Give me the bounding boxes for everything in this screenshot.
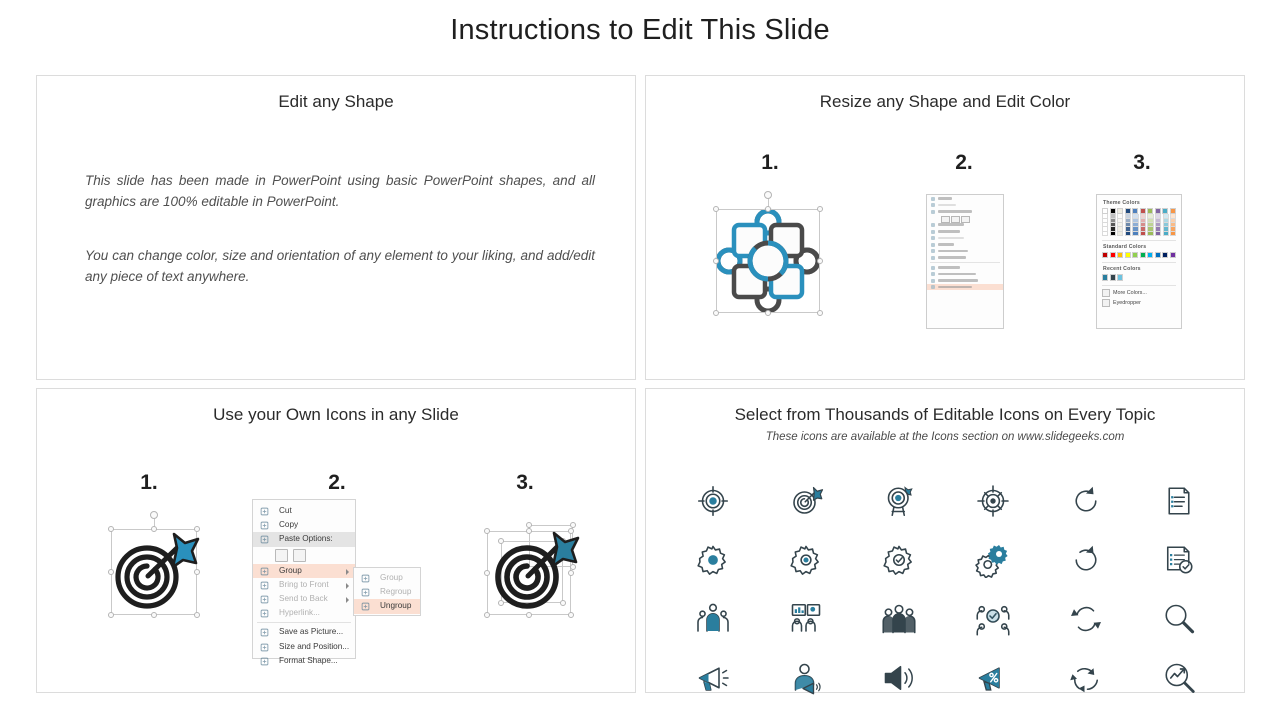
theme-colors-label: Theme Colors: [1103, 200, 1176, 206]
divider: [1102, 262, 1176, 263]
mini-context-menu-item-size-and-position[interactable]: [927, 277, 1003, 284]
group-icon: [260, 567, 269, 576]
context-menu-item-paste-options[interactable]: Paste Options:: [253, 532, 355, 546]
mini-item-label: [938, 266, 960, 269]
standard-swatch-2[interactable]: [1117, 252, 1123, 258]
standard-swatch-1[interactable]: [1110, 252, 1116, 258]
submenu-chevron-icon: [346, 583, 349, 589]
document-list-icon[interactable]: [1133, 471, 1226, 530]
send-back-icon: [260, 595, 269, 604]
mini-item-label: [938, 279, 978, 282]
mini-item-label: [938, 286, 972, 289]
icon-row: [666, 530, 1226, 589]
group-icon: [260, 567, 269, 576]
crosshair-scope-icon[interactable]: [946, 471, 1039, 530]
bring-front-icon: [931, 243, 935, 247]
mini-item-label: [938, 197, 952, 200]
theme-tint-0-4[interactable]: [1102, 232, 1108, 236]
size-position-icon: [260, 643, 269, 652]
mini-context-menu-item-edit-points[interactable]: [927, 228, 1003, 235]
context-menu-thumbnail[interactable]: [926, 194, 1004, 329]
mini-item-label: [938, 204, 956, 207]
recent-swatch-2[interactable]: [1117, 274, 1123, 280]
speaker-icon[interactable]: [853, 648, 946, 707]
send-back-icon: [931, 249, 935, 253]
theme-color-tints[interactable]: [1102, 214, 1176, 236]
mini-item-label: [938, 243, 954, 246]
scissors-icon: [260, 507, 269, 516]
save-picture-icon: [260, 628, 269, 637]
rotation-handle[interactable]: [764, 191, 772, 199]
hyperlink-icon: [260, 609, 269, 618]
target-crosshair-icon[interactable]: [666, 471, 759, 530]
edit-text-icon: [931, 223, 935, 227]
gear-outline-icon[interactable]: [759, 530, 852, 589]
recent-colors-label: Recent Colors: [1103, 266, 1176, 272]
context-menu-item-label: Paste Options:: [279, 534, 333, 543]
divider: [1102, 285, 1176, 286]
panel-resize-shape-title: Resize any Shape and Edit Color: [646, 92, 1244, 112]
resize-handle-s[interactable]: [765, 310, 771, 316]
hyperlink-icon: [931, 256, 935, 260]
regroup-icon: [361, 588, 370, 597]
ungroup-icon: [361, 602, 370, 611]
mini-context-menu-item-set-as-default-shape[interactable]: [927, 271, 1003, 278]
edit-shape-paragraph-2: You can change color, size and orientati…: [85, 246, 595, 288]
icons-step-1-number: 1.: [119, 471, 179, 495]
standard-swatch-0[interactable]: [1102, 252, 1108, 258]
standard-swatch-5[interactable]: [1140, 252, 1146, 258]
regroup-icon: [361, 588, 370, 597]
theme-tint-column-8[interactable]: [1163, 214, 1169, 236]
context-menu-item-group[interactable]: Group: [253, 564, 355, 578]
gear-filled-icon[interactable]: [666, 530, 759, 589]
standard-colors-label: Standard Colors: [1103, 244, 1176, 250]
theme-tint-8-4[interactable]: [1163, 232, 1169, 236]
icon-gallery: [666, 471, 1226, 707]
submenu-item-label: Regroup: [380, 587, 411, 596]
context-menu-item-label: Copy: [279, 520, 298, 529]
size-position-icon: [260, 643, 269, 652]
theme-tint-column-9[interactable]: [1170, 214, 1176, 236]
size-position-icon: [931, 279, 935, 283]
standard-swatch-9[interactable]: [1170, 252, 1176, 258]
paste-icon: [931, 210, 935, 214]
theme-tint-column-0[interactable]: [1102, 214, 1108, 236]
theme-tint-column-2[interactable]: [1117, 214, 1123, 236]
people-group-icon[interactable]: [853, 589, 946, 648]
theme-tint-column-7[interactable]: [1155, 214, 1161, 236]
person-megaphone-icon[interactable]: [759, 648, 852, 707]
context-menu-item-format-shape[interactable]: Format Shape...: [253, 654, 355, 668]
context-menu-item-label: Size and Position...: [279, 642, 349, 651]
format-shape-icon: [260, 657, 269, 666]
resize-handle-sw[interactable]: [713, 310, 719, 316]
mini-context-menu-item-send-to-back[interactable]: [927, 248, 1003, 255]
submenu-chevron-icon: [346, 569, 349, 575]
theme-tint-column-5[interactable]: [1140, 214, 1146, 236]
standard-swatch-6[interactable]: [1147, 252, 1153, 258]
submenu-item-group[interactable]: Group: [354, 571, 420, 585]
megaphone-percent-icon[interactable]: [946, 648, 1039, 707]
format-shape-icon: [260, 657, 269, 666]
paste-options-row[interactable]: [253, 547, 355, 564]
checklist-document-icon[interactable]: [1133, 530, 1226, 589]
menu-separator: [257, 622, 351, 623]
mini-context-menu-item-edit-text[interactable]: [927, 221, 1003, 228]
mini-item-label: [938, 210, 972, 213]
edit-points-icon: [931, 230, 935, 234]
edit-shape-paragraph-1: This slide has been made in PowerPoint u…: [85, 171, 595, 213]
mini-item-label: [938, 273, 976, 276]
mini-item-label: [938, 237, 964, 240]
group-icon: [931, 236, 935, 240]
ungroup-icon: [361, 602, 370, 611]
icons-step-1-art[interactable]: [99, 517, 209, 629]
mini-item-label: [938, 256, 966, 259]
resize-handle-nw[interactable]: [713, 206, 719, 212]
panel-editable-icons: Select from Thousands of Editable Icons …: [645, 388, 1245, 693]
mini-context-menu-item-save-as-picture[interactable]: [927, 264, 1003, 271]
paste-icon: [260, 535, 269, 544]
submenu-item-label: Group: [380, 573, 403, 582]
resize-step-1-art[interactable]: [708, 196, 828, 321]
mini-context-menu-item-format-shape[interactable]: [927, 284, 1003, 291]
sync-arrows-icon[interactable]: [1039, 589, 1132, 648]
magnifier-icon[interactable]: [1133, 589, 1226, 648]
cycle-arrows-icon[interactable]: [1039, 648, 1132, 707]
save-picture-icon: [931, 266, 935, 270]
group-icon: [361, 574, 370, 583]
copy-icon: [260, 521, 269, 530]
divider: [1102, 240, 1176, 241]
bring-front-icon: [260, 581, 269, 590]
eyedropper-item[interactable]: Eyedropper: [1102, 299, 1176, 307]
eyedropper-icon: [1102, 299, 1110, 307]
mini-item-label: [938, 250, 968, 253]
hyperlink-icon: [260, 609, 269, 618]
theme-tint-column-6[interactable]: [1147, 214, 1153, 236]
group-icon: [361, 574, 370, 583]
send-back-icon: [260, 595, 269, 604]
scissors-icon: [931, 197, 935, 201]
standard-swatch-8[interactable]: [1162, 252, 1168, 258]
more-colors-item[interactable]: More Colors...: [1102, 289, 1176, 297]
resize-handle-w[interactable]: [713, 258, 719, 264]
page-title: Instructions to Edit This Slide: [0, 14, 1280, 47]
theme-tint-5-4[interactable]: [1140, 232, 1146, 236]
context-menu-item-label: Bring to Front: [279, 580, 329, 589]
double-gear-icon[interactable]: [946, 530, 1039, 589]
selection-box[interactable]: [716, 209, 820, 313]
save-picture-icon: [260, 628, 269, 637]
panel-edit-shape: Edit any Shape This slide has been made …: [36, 75, 636, 380]
panel-editable-icons-subtitle: These icons are available at the Icons s…: [646, 431, 1244, 443]
context-menu-item-label: Send to Back: [279, 594, 328, 603]
theme-tint-column-4[interactable]: [1132, 214, 1138, 236]
panel-own-icons-title: Use your Own Icons in any Slide: [37, 405, 635, 425]
mini-context-menu-item-paste-options[interactable]: [927, 208, 1003, 215]
context-menu-item-bring-to-front[interactable]: Bring to Front: [253, 578, 355, 592]
recent-color-swatches[interactable]: [1102, 274, 1176, 280]
group-submenu[interactable]: GroupRegroupUngroup: [353, 567, 421, 616]
format-shape-icon: [931, 285, 935, 289]
theme-tint-7-4[interactable]: [1155, 232, 1161, 236]
color-picker-thumbnail[interactable]: Theme Colors Standard Colors Recent Colo…: [1096, 194, 1182, 329]
recent-swatch-1[interactable]: [1110, 274, 1116, 280]
context-menu-item-size-and-position[interactable]: Size and Position...: [253, 640, 355, 654]
target-stand-icon[interactable]: [853, 471, 946, 530]
default-shape-icon: [931, 272, 935, 276]
mini-context-menu-item-bring-to-front[interactable]: [927, 241, 1003, 248]
context-menu-item-save-as-picture[interactable]: Save as Picture...: [253, 625, 355, 639]
panel-resize-shape: Resize any Shape and Edit Color 1. 2. 3.: [645, 75, 1245, 380]
standard-swatch-4[interactable]: [1132, 252, 1138, 258]
context-menu-item-cut[interactable]: Cut: [253, 504, 355, 518]
resize-handle-e[interactable]: [817, 258, 823, 264]
dartboard-arrow-icon[interactable]: [759, 471, 852, 530]
recent-swatch-0[interactable]: [1102, 274, 1108, 280]
slide-canvas: Instructions to Edit This Slide Edit any…: [0, 0, 1280, 720]
icon-row: [666, 471, 1226, 530]
team-meeting-icon[interactable]: [946, 589, 1039, 648]
person-leader-icon[interactable]: [666, 589, 759, 648]
paste-icon: [260, 535, 269, 544]
gear-check-icon[interactable]: [853, 530, 946, 589]
resize-handle-ne[interactable]: [817, 206, 823, 212]
megaphone-icon[interactable]: [666, 648, 759, 707]
submenu-item-label: Ungroup: [380, 601, 411, 610]
icons-step-2-number: 2.: [307, 471, 367, 495]
icon-row: [666, 648, 1226, 707]
icons-step-3-number: 3.: [495, 471, 555, 495]
submenu-item-regroup[interactable]: Regroup: [354, 585, 420, 599]
paste-picture-icon[interactable]: [293, 549, 306, 562]
copy-icon: [931, 203, 935, 207]
target-dart-icon-ungrouped: [477, 517, 592, 629]
standard-swatch-7[interactable]: [1155, 252, 1161, 258]
theme-tint-column-1[interactable]: [1110, 214, 1116, 236]
copy-icon: [260, 521, 269, 530]
magnifier-chart-icon[interactable]: [1133, 648, 1226, 707]
submenu-chevron-icon: [346, 597, 349, 603]
context-menu-item-label: Hyperlink...: [279, 608, 320, 617]
theme-tint-3-4[interactable]: [1125, 232, 1131, 236]
panel-edit-shape-title: Edit any Shape: [37, 92, 635, 112]
mini-context-menu-item-group[interactable]: [927, 235, 1003, 242]
paste-keep-formatting-icon[interactable]: [275, 549, 288, 562]
panel-editable-icons-title: Select from Thousands of Editable Icons …: [646, 405, 1244, 425]
bring-front-icon: [260, 581, 269, 590]
context-menu-item-label: Cut: [279, 506, 292, 515]
panel-own-icons: Use your Own Icons in any Slide 1. 2. 3.: [36, 388, 636, 693]
theme-tint-2-4[interactable]: [1117, 232, 1123, 236]
mini-item-label: [938, 230, 960, 233]
mini-paste-options-row[interactable]: [927, 215, 1003, 222]
theme-tint-6-4[interactable]: [1147, 232, 1153, 236]
theme-tint-1-4[interactable]: [1110, 232, 1116, 236]
standard-swatch-3[interactable]: [1125, 252, 1131, 258]
presentation-people-icon[interactable]: [759, 589, 852, 648]
palette-icon: [1102, 289, 1110, 297]
icon-row: [666, 589, 1226, 648]
more-colors-label: More Colors...: [1113, 290, 1147, 296]
theme-tint-9-4[interactable]: [1170, 232, 1176, 236]
resize-handle-n[interactable]: [765, 206, 771, 212]
circular-arrow-icon[interactable]: [1039, 530, 1132, 589]
resize-step-3-number: 3.: [1112, 151, 1172, 175]
scissors-icon: [260, 507, 269, 516]
mini-context-menu-item-cut[interactable]: [927, 195, 1003, 202]
mini-item-label: [938, 223, 964, 226]
eyedropper-label: Eyedropper: [1113, 300, 1141, 306]
mini-context-menu-item-hyperlink[interactable]: [927, 254, 1003, 261]
context-menu-item-copy[interactable]: Copy: [253, 518, 355, 532]
context-menu-item-label: Save as Picture...: [279, 627, 343, 636]
refresh-arrow-icon[interactable]: [1039, 471, 1132, 530]
icons-step-3-art[interactable]: [477, 517, 592, 629]
context-menu[interactable]: CutCopyPaste Options:GroupBring to Front…: [252, 499, 356, 659]
resize-step-2-number: 2.: [934, 151, 994, 175]
standard-color-swatches[interactable]: [1102, 252, 1176, 258]
context-menu-item-send-to-back[interactable]: Send to Back: [253, 592, 355, 606]
theme-tint-4-4[interactable]: [1132, 232, 1138, 236]
context-menu-item-label: Format Shape...: [279, 656, 338, 665]
menu-separator: [930, 262, 1000, 263]
theme-tint-column-3[interactable]: [1125, 214, 1131, 236]
submenu-item-ungroup[interactable]: Ungroup: [354, 599, 420, 613]
context-menu-item-hyperlink[interactable]: Hyperlink...: [253, 606, 355, 620]
context-menu-item-label: Group: [279, 566, 302, 575]
target-dart-icon: [99, 517, 209, 629]
resize-handle-se[interactable]: [817, 310, 823, 316]
mini-context-menu-item-copy[interactable]: [927, 202, 1003, 209]
resize-step-1-number: 1.: [740, 151, 800, 175]
